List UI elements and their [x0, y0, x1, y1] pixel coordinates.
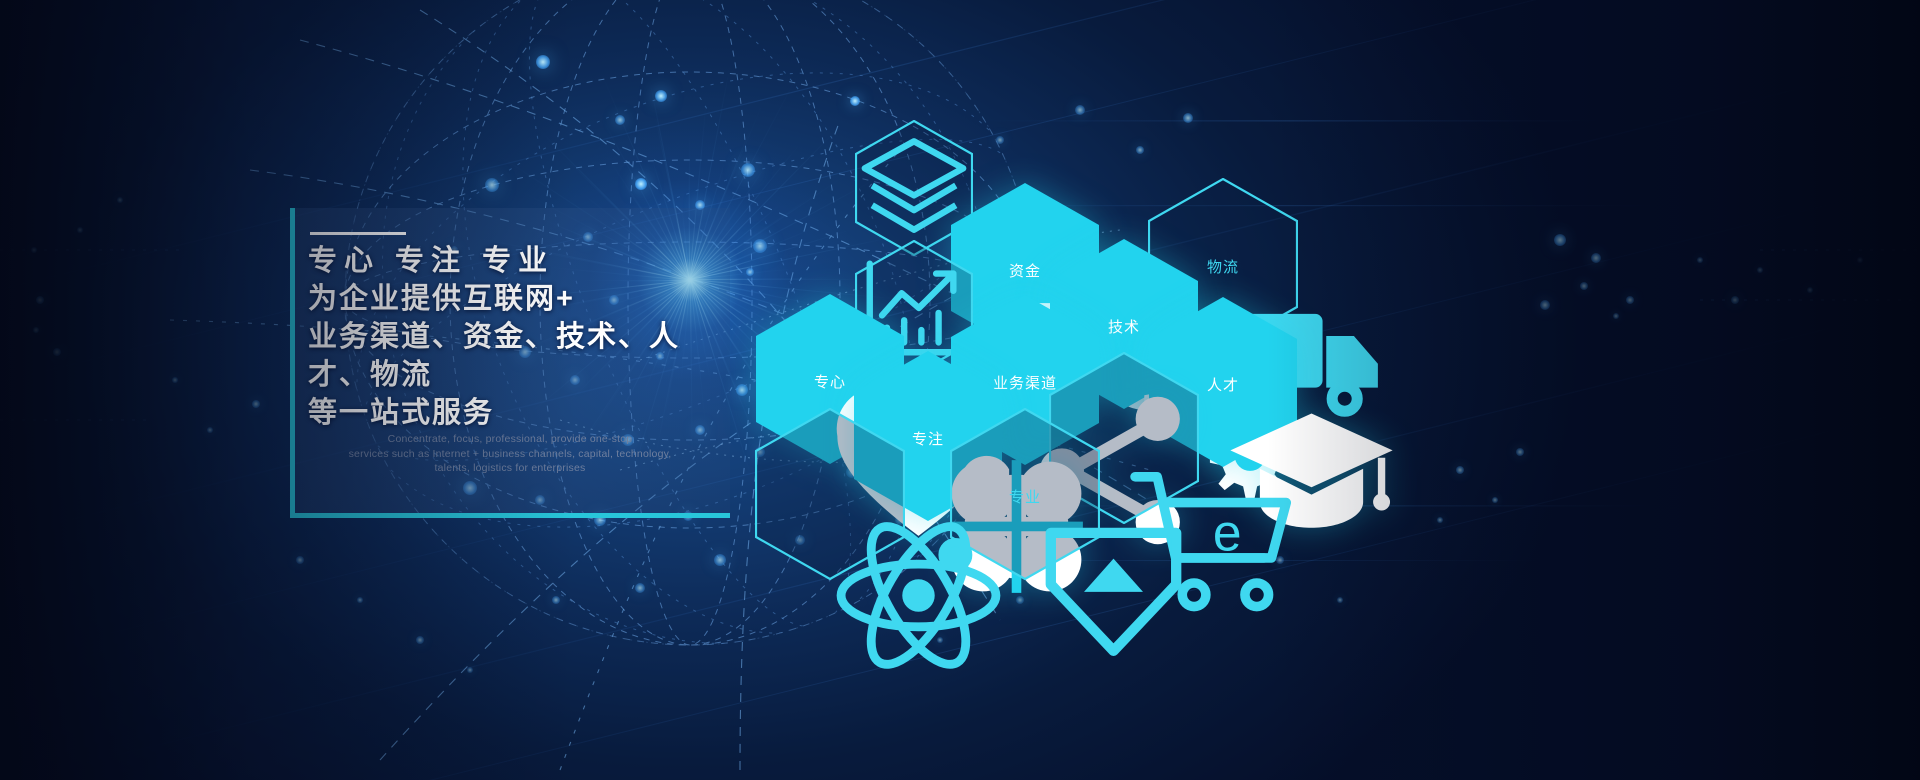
svg-text:e: e [1213, 504, 1242, 562]
hexagon-cluster: 资金物流技术人才专心业务渠道e专注专业 [0, 0, 1920, 780]
hexagon-tile-atom[interactable] [755, 408, 905, 580]
hero-banner: 专心 专注 专业 为企业提供互联网+ 业务渠道、资金、技术、人才、物流 等一站式… [0, 0, 1920, 780]
